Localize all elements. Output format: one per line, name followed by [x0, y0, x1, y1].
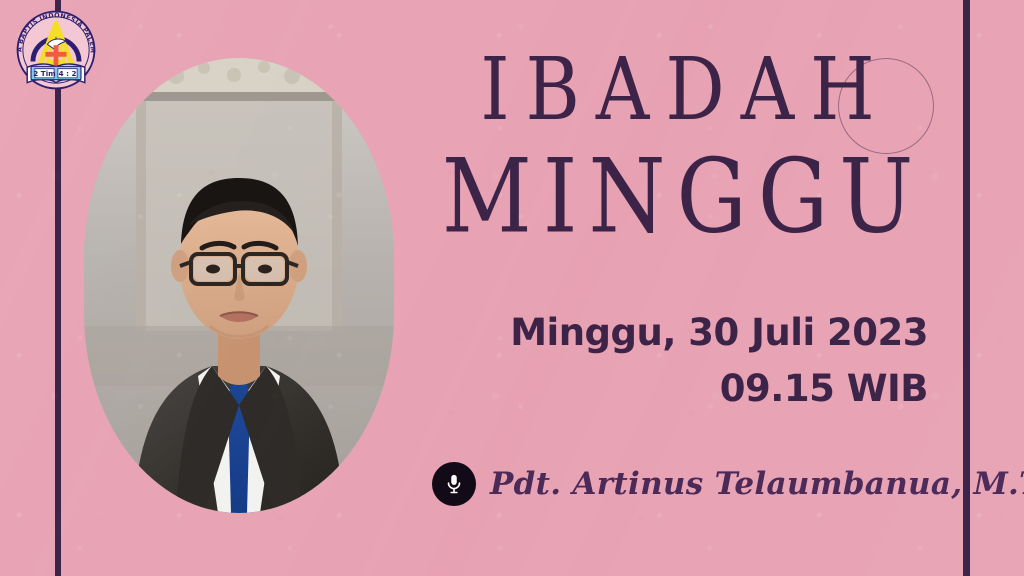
speaker-portrait	[84, 58, 394, 513]
service-time: 09.15 WIB	[408, 368, 928, 411]
sunday-service-poster: 2 Tim 4 : 2 GEREJA BAPTIS INDONESIA PALE…	[0, 0, 1024, 576]
microphone-icon	[432, 462, 476, 506]
speaker-name: Pdt. Artinus Telaumbanua, M.Th	[490, 466, 1024, 502]
page-title: IBADAH MINGGU	[400, 48, 955, 233]
title-line-1: IBADAH	[400, 48, 955, 132]
service-schedule: Minggu, 30 Juli 2023 09.15 WIB	[408, 312, 928, 410]
speaker-row: Pdt. Artinus Telaumbanua, M.Th	[432, 462, 1024, 506]
logo-verse-left: 2 Tim	[33, 69, 55, 78]
title-line-2: MINGGU	[400, 147, 955, 247]
service-date: Minggu, 30 Juli 2023	[408, 312, 928, 355]
logo-verse-right: 4 : 2	[59, 69, 77, 78]
church-logo: 2 Tim 4 : 2 GEREJA BAPTIS INDONESIA PALE…	[8, 2, 104, 98]
